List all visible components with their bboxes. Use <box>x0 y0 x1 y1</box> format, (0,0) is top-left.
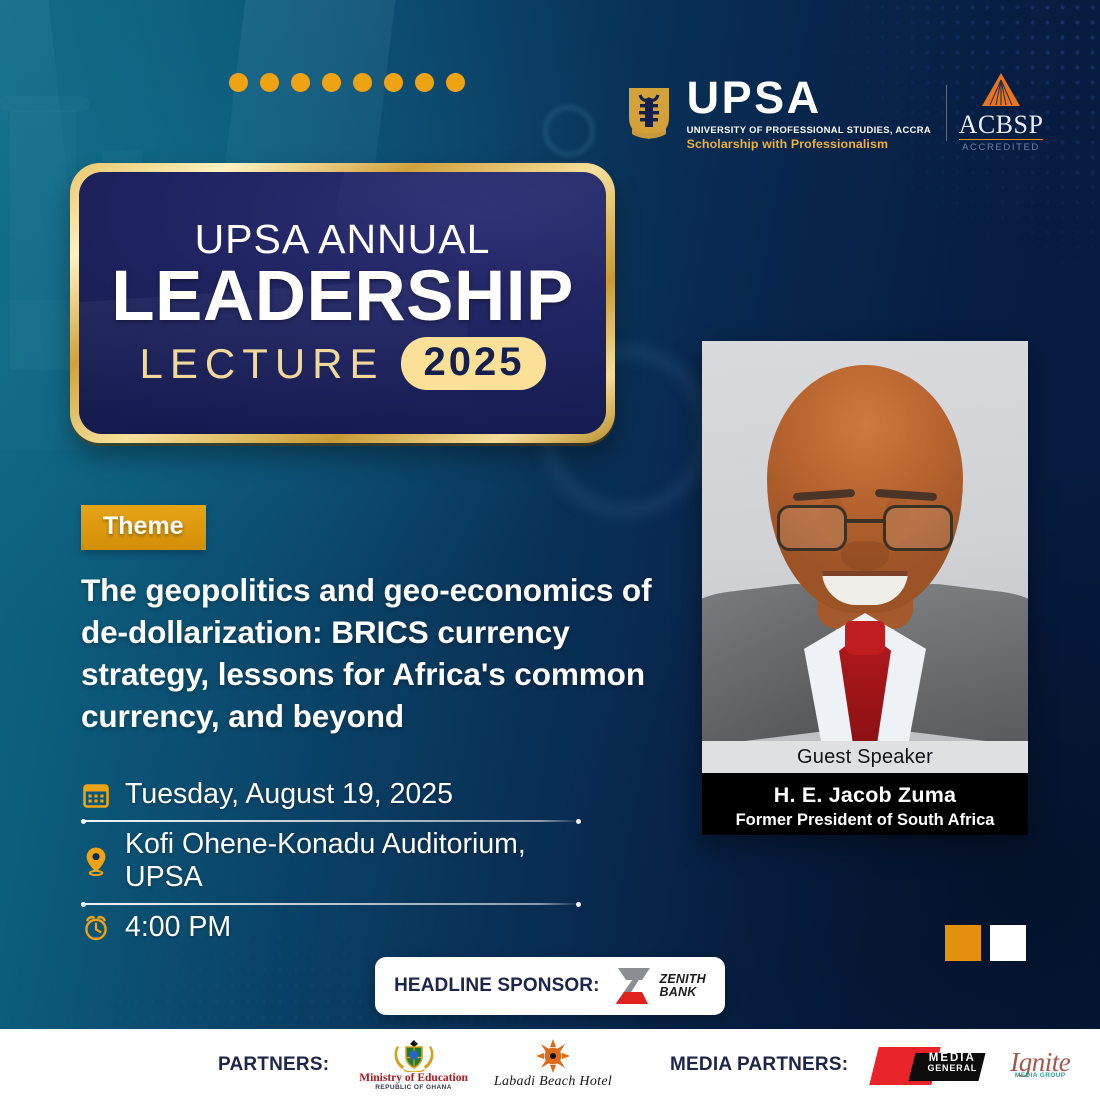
speaker-role-line-two: and Pesident of MK Party <box>708 833 1022 835</box>
title-plaque: UPSA ANNUAL LEADERSHIP LECTURE 2025 <box>70 163 615 443</box>
detail-separator <box>81 903 581 905</box>
guest-speaker-card: Guest Speaker H. E. Jacob Zuma Former Pr… <box>702 341 1028 835</box>
alarm-clock-icon <box>81 914 111 942</box>
decorative-dot-row <box>229 73 465 92</box>
decor-dot <box>384 73 403 92</box>
labadi-sun-icon <box>536 1039 570 1073</box>
headline-sponsor-label: HEADLINE SPONSOR: <box>394 975 599 997</box>
speaker-caption: Guest Speaker <box>702 741 1028 773</box>
zenith-logo-line-two: BANK <box>660 986 706 999</box>
partner-subtitle-ministry: REPUBLIC OF GHANA <box>375 1085 452 1092</box>
speaker-name-block: H. E. Jacob Zuma Former President of Sou… <box>702 773 1028 835</box>
portrait-head <box>767 365 963 613</box>
zenith-bank-logo-icon: ZENITH BANK <box>612 966 706 1006</box>
theme-badge: Theme <box>81 505 206 550</box>
ignite-subtitle: MEDIA GROUP <box>1015 1072 1066 1079</box>
upsa-wordmark: UPSA UNIVERSITY OF PROFESSIONAL STUDIES,… <box>687 75 931 151</box>
upsa-tagline: Scholarship with Professionalism <box>687 138 931 150</box>
partner-name-ministry: Ministry of Education <box>359 1073 468 1085</box>
theme-text: The geopolitics and geo-economics of de-… <box>81 570 681 738</box>
event-details-list: Tuesday, August 19, 2025 Kofi Ohene-Kona… <box>81 772 581 953</box>
portrait-tie-knot <box>845 621 885 655</box>
portrait-eyebrow-right <box>875 489 937 501</box>
acbsp-status: ACCREDITED <box>962 142 1040 153</box>
detail-value-venue: Kofi Ohene-Konadu Auditorium, UPSA <box>125 828 581 894</box>
decor-dot <box>446 73 465 92</box>
location-pin-icon <box>81 846 111 876</box>
partner-name-labadi: Labadi Beach Hotel <box>494 1074 612 1090</box>
detail-value-time: 4:00 PM <box>125 911 231 944</box>
ghana-coat-of-arms-icon <box>391 1038 437 1072</box>
decorative-ring-small <box>543 105 595 157</box>
speaker-name: H. E. Jacob Zuma <box>708 783 1022 808</box>
acbsp-torch-icon <box>973 72 1029 113</box>
ignite-media-group-logo-icon: Ignite <box>1010 1050 1070 1074</box>
decor-dot <box>353 73 372 92</box>
logo-divider <box>946 85 947 141</box>
headline-sponsor-pill: HEADLINE SPONSOR: ZENITH BANK <box>375 957 725 1015</box>
decor-dot <box>291 73 310 92</box>
decor-dot <box>322 73 341 92</box>
detail-row-venue: Kofi Ohene-Konadu Auditorium, UPSA <box>81 822 581 903</box>
partners-label: PARTNERS: <box>218 1054 329 1076</box>
speaker-role-line-one: Former President of South Africa <box>708 810 1022 831</box>
detail-separator <box>81 820 581 822</box>
decorative-square-orange <box>945 925 981 961</box>
upsa-shield-icon <box>626 85 672 141</box>
brand-logo-lockup: UPSA UNIVERSITY OF PROFESSIONAL STUDIES,… <box>626 72 1040 153</box>
detail-row-date: Tuesday, August 19, 2025 <box>81 772 581 820</box>
title-line-three: LECTURE <box>139 340 384 388</box>
upsa-acronym: UPSA <box>687 75 931 120</box>
decor-dot <box>415 73 434 92</box>
calendar-icon <box>81 782 111 808</box>
portrait-smile <box>822 571 908 605</box>
partner-logo-ministry-of-education: Ministry of Education REPUBLIC OF GHANA <box>359 1038 468 1092</box>
title-line-two: LEADERSHIP <box>111 261 574 333</box>
partners-footer-bar: PARTNERS: Ministry of <box>0 1029 1100 1100</box>
decor-dot <box>260 73 279 92</box>
detail-value-date: Tuesday, August 19, 2025 <box>125 778 453 811</box>
media-partner-logo-media-general: MEDIA GENERAL <box>874 1044 984 1086</box>
decor-dot <box>229 73 248 92</box>
media-partner-logo-ignite: Ignite MEDIA GROUP <box>1010 1050 1070 1079</box>
title-year-badge: 2025 <box>401 337 546 390</box>
speaker-portrait-photo <box>702 341 1028 741</box>
event-poster: UPSA UNIVERSITY OF PROFESSIONAL STUDIES,… <box>0 0 1100 1100</box>
decorative-square-white <box>990 925 1026 961</box>
partner-logo-labadi-beach-hotel: Labadi Beach Hotel <box>494 1039 612 1090</box>
acbsp-name: ACBSP <box>959 112 1044 140</box>
media-partners-label: MEDIA PARTNERS: <box>670 1054 848 1076</box>
portrait-nose <box>841 541 889 571</box>
upsa-full-name: UNIVERSITY OF PROFESSIONAL STUDIES, ACCR… <box>687 125 931 134</box>
acbsp-logo: ACBSP ACCREDITED <box>962 72 1040 153</box>
detail-row-time: 4:00 PM <box>81 905 581 953</box>
media-general-line-two: GENERAL <box>920 1064 984 1073</box>
title-line-one: UPSA ANNUAL <box>195 216 491 263</box>
